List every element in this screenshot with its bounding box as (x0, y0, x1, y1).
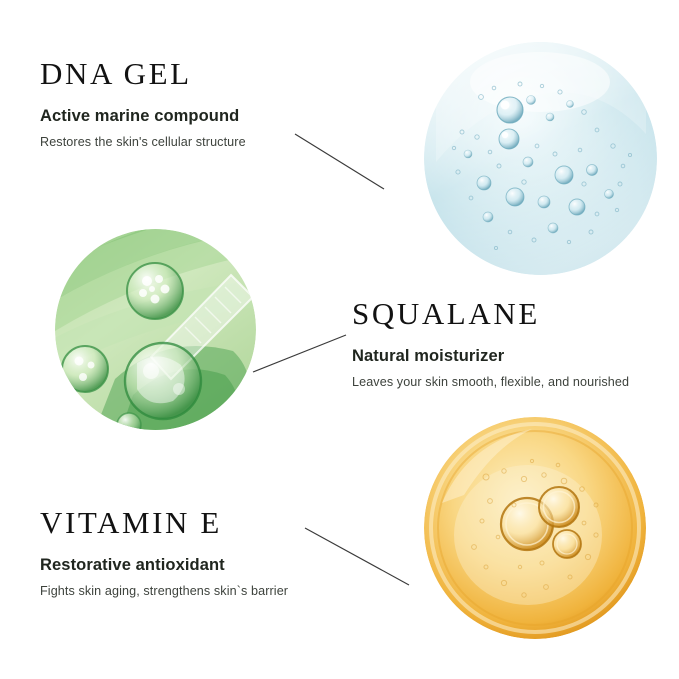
connector-dna-gel (295, 134, 384, 189)
ingredient-subtitle-dna-gel: Active marine compound (40, 107, 246, 127)
amber-oil-bubbles-swatch (424, 417, 646, 639)
ingredient-description-squalane: Leaves your skin smooth, flexible, and n… (352, 375, 629, 391)
blue-gel-bubbles-swatch (424, 42, 657, 275)
ingredient-title-squalane: SQUALANE (352, 298, 629, 331)
ingredient-subtitle-vitamin-e: Restorative antioxidant (40, 556, 288, 576)
ingredient-title-dna-gel: DNA GEL (40, 58, 246, 91)
ingredient-title-vitamin-e: VITAMIN E (40, 507, 288, 540)
connector-squalane (253, 335, 346, 372)
ingredient-info-squalane: SQUALANE Natural moisturizer Leaves your… (352, 298, 629, 391)
green-gel-droplets-swatch (55, 229, 256, 430)
ingredient-info-vitamin-e: VITAMIN E Restorative antioxidant Fights… (40, 507, 288, 600)
ingredient-description-vitamin-e: Fights skin aging, strengthens skin`s ba… (40, 584, 288, 600)
ingredient-subtitle-squalane: Natural moisturizer (352, 347, 629, 367)
ingredient-info-dna-gel: DNA GEL Active marine compound Restores … (40, 58, 246, 151)
connector-vitamin-e (305, 528, 409, 585)
ingredient-description-dna-gel: Restores the skin's cellular structure (40, 135, 246, 151)
ingredient-infographic: DNA GEL Active marine compound Restores … (0, 0, 679, 679)
